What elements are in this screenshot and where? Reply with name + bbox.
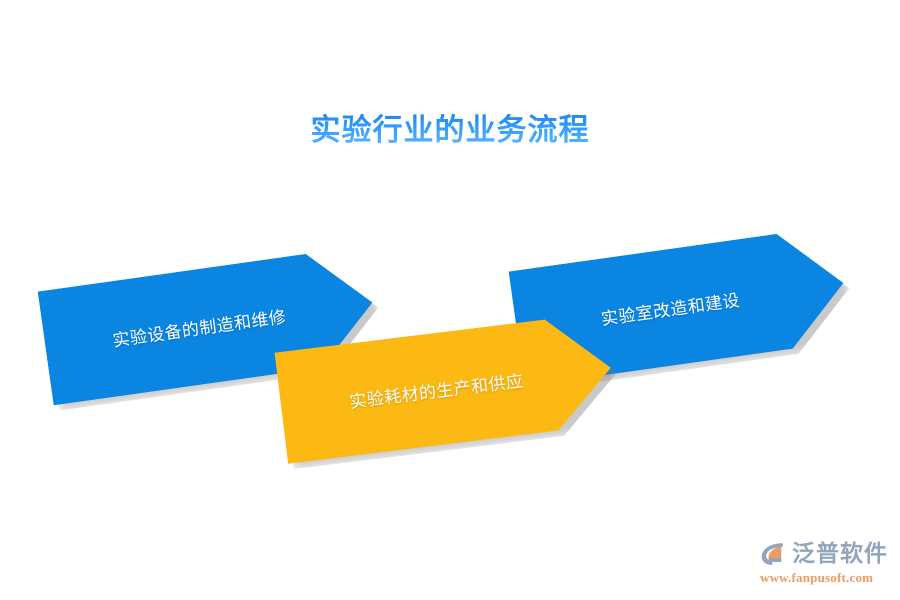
brand-name: 泛普软件 <box>792 542 888 565</box>
fanpu-swoosh-logo-icon <box>758 538 788 568</box>
brand-url: www.fanpusoft.com <box>760 570 873 586</box>
watermark-logo: 泛普软件 www.fanpusoft.com <box>758 538 888 586</box>
process-flow-diagram: 实验设备的制造和维修 实验耗材的生产和供应 实验室改造和建设 <box>0 0 900 600</box>
brand-row: 泛普软件 <box>758 538 888 568</box>
slide-canvas: 实验行业的业务流程 实验设备的制造和维修 实验耗材的生产和供应 实验室改造和建设… <box>0 0 900 600</box>
